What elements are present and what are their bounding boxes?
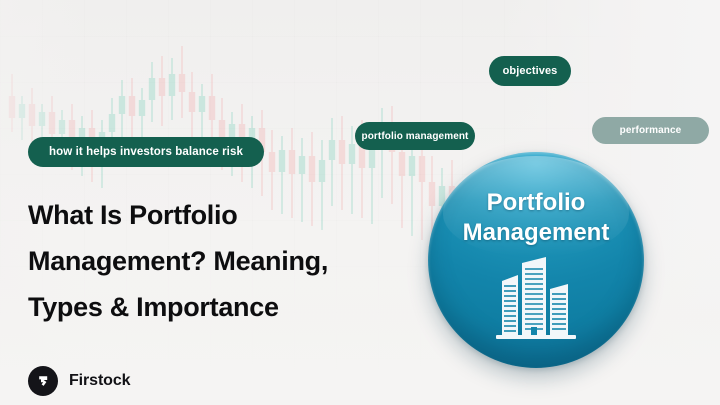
page-title-line-1: What Is Portfolio <box>28 192 418 238</box>
tag-hero-label: how it helps investors balance risk <box>49 146 243 158</box>
page-title-line-3: Types & Importance <box>28 284 418 330</box>
brand-logo[interactable]: Firstock <box>28 366 130 396</box>
badge-title-line-1: Portfolio <box>428 188 644 218</box>
page-title: What Is Portfolio Management? Meaning, T… <box>28 192 418 330</box>
tag-hero[interactable]: how it helps investors balance risk <box>28 137 264 167</box>
badge-title-line-2: Management <box>428 218 644 248</box>
badge-title: Portfolio Management <box>428 188 644 248</box>
portfolio-management-badge: Portfolio Management <box>428 152 644 368</box>
page-title-line-2: Management? Meaning, <box>28 238 418 284</box>
tag-objectives-label: objectives <box>503 65 558 77</box>
tag-portfolio-management[interactable]: portfolio management <box>355 122 475 150</box>
tag-performance-label: performance <box>620 125 682 136</box>
poster-canvas: how it helps investors balance risk obje… <box>0 0 720 405</box>
tag-portfolio-management-label: portfolio management <box>361 131 468 142</box>
tag-objectives[interactable]: objectives <box>489 56 571 86</box>
city-buildings-icon <box>488 255 584 343</box>
tag-performance[interactable]: performance <box>592 117 709 144</box>
brand-name: Firstock <box>69 372 130 390</box>
arrow-up-right-flag-icon <box>28 366 58 396</box>
